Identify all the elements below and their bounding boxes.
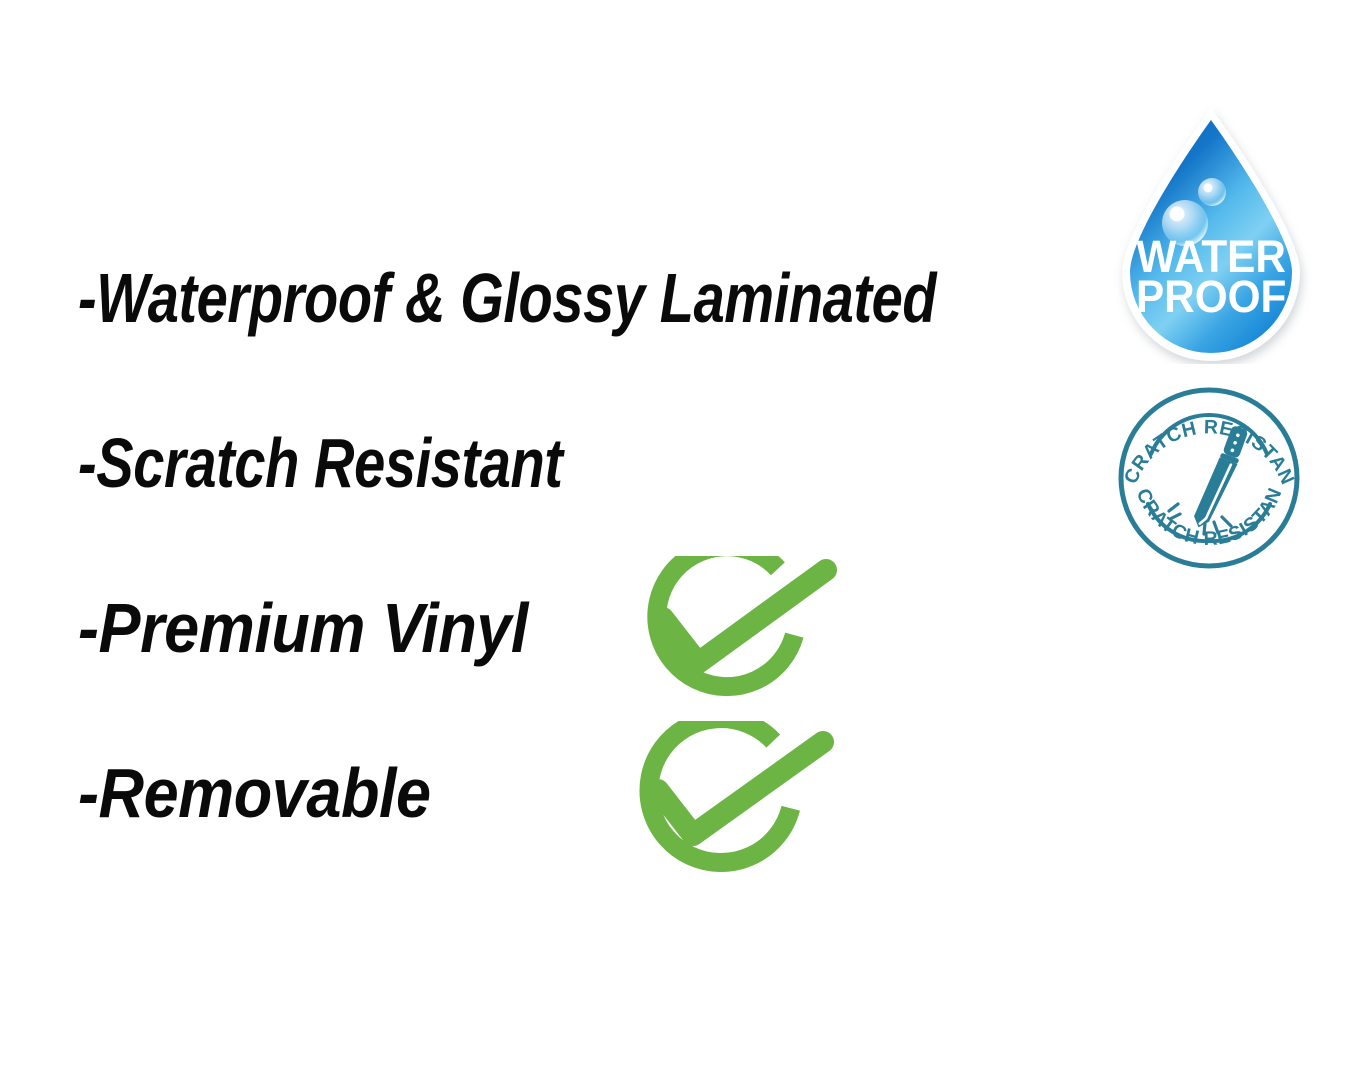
check-circle-icon — [636, 556, 841, 716]
feature-list: -Waterproof & Glossy Laminated -Scratch … — [78, 258, 1098, 833]
feature-item-scratch-resistant-label: -Scratch Resistant — [78, 428, 563, 498]
feature-item-scratch-resistant: -Scratch Resistant — [78, 423, 1098, 503]
knife-icon — [1191, 423, 1250, 532]
bubble-small-highlight — [1204, 184, 1213, 193]
feature-highlights-canvas: -Waterproof & Glossy Laminated -Scratch … — [0, 0, 1359, 1080]
waterproof-droplet-badge: WATER PROOF — [1104, 104, 1319, 369]
check-circle-icon — [631, 721, 836, 886]
feature-item-premium-vinyl: -Premium Vinyl — [78, 588, 1098, 668]
bubble-large-highlight — [1170, 207, 1185, 222]
check-circle-removable — [631, 721, 836, 891]
stamp-top-arc-text: SCRATCH RESISTANT — [1112, 386, 1299, 488]
scratch-resistant-stamp-icon: SCRATCH RESISTANT SCRATCH RESISTANT — [1112, 386, 1306, 571]
feature-item-premium-vinyl-label: -Premium Vinyl — [78, 593, 528, 663]
feature-item-removable: -Removable — [78, 753, 1098, 833]
check-circle-premium-vinyl — [636, 556, 841, 721]
bubble-small-icon — [1198, 178, 1226, 206]
feature-item-removable-label: -Removable — [78, 758, 431, 828]
feature-item-waterproof-label: -Waterproof & Glossy Laminated — [78, 263, 936, 333]
waterproof-line2: PROOF — [1136, 272, 1286, 322]
scratch-resistant-stamp-badge: SCRATCH RESISTANT SCRATCH RESISTANT — [1112, 386, 1306, 576]
feature-item-waterproof: -Waterproof & Glossy Laminated — [78, 258, 1098, 338]
water-drop-icon: WATER PROOF — [1104, 104, 1319, 364]
